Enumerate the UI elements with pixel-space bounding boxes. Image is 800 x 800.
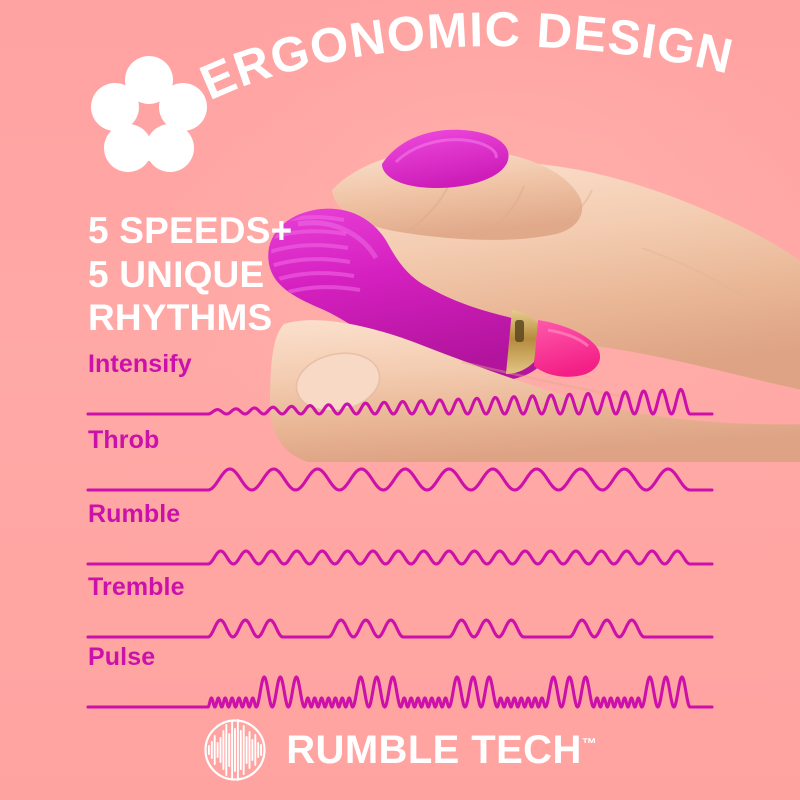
brand-name-text: RUMBLE TECH [286, 728, 582, 772]
headline-line-2: 5 UNIQUE [88, 253, 388, 297]
brand-footer: RUMBLE TECH™ [0, 714, 800, 786]
wave-plot-intensify [0, 352, 800, 430]
brand-name: RUMBLE TECH™ [286, 730, 597, 770]
infographic-canvas: ERGONOMIC DESIGN 5 SPEEDS+ 5 UNIQUE RHYT… [0, 0, 800, 800]
wave-plot-pulse [0, 645, 800, 723]
wave-row-intensify: Intensify [0, 352, 800, 430]
wave-plot-throb [0, 428, 800, 506]
headline-line-1: 5 SPEEDS+ [88, 209, 388, 253]
headline: 5 SPEEDS+ 5 UNIQUE RHYTHMS [88, 209, 388, 340]
wave-row-tremble: Tremble [0, 575, 800, 653]
audio-waveform-circle-icon [203, 718, 267, 782]
five-circles-icon [86, 52, 212, 178]
wave-plot-rumble [0, 502, 800, 580]
wave-plot-tremble [0, 575, 800, 653]
wave-row-throb: Throb [0, 428, 800, 506]
wave-row-rumble: Rumble [0, 502, 800, 580]
wave-row-pulse: Pulse [0, 645, 800, 723]
headline-line-3: RHYTHMS [88, 296, 388, 340]
trademark-symbol: ™ [582, 736, 597, 753]
